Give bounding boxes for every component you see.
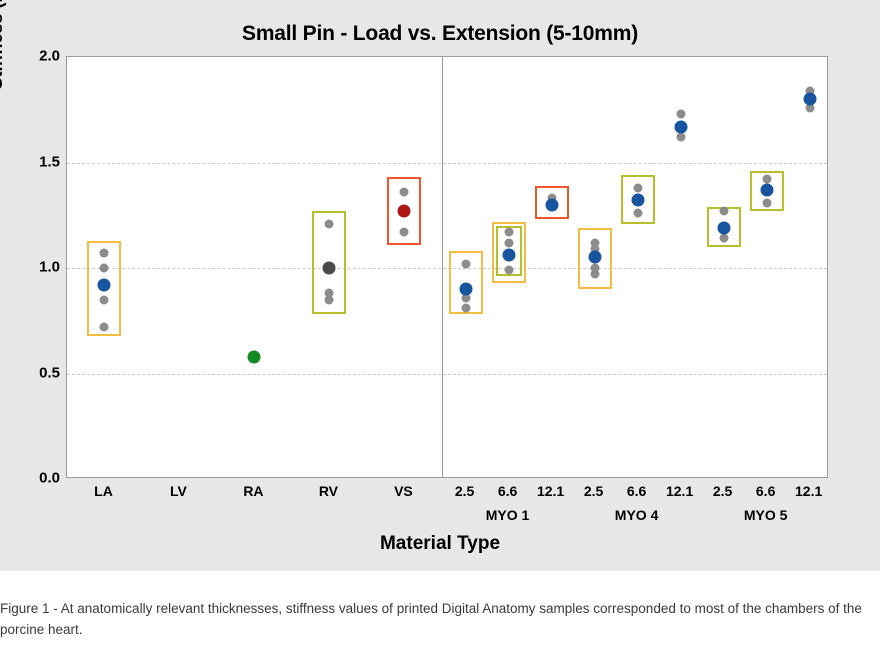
gridline <box>67 374 827 375</box>
x-tick-label: 12.1 <box>537 483 564 499</box>
data-point <box>461 259 470 268</box>
figure-caption: Figure 1 - At anatomically relevant thic… <box>0 571 880 650</box>
x-group-label: MYO 5 <box>744 507 788 523</box>
data-point <box>676 109 685 118</box>
x-tick-label: 6.6 <box>756 483 775 499</box>
mean-data-point <box>323 262 336 275</box>
x-tick-label: LA <box>94 483 113 499</box>
x-tick-label: 12.1 <box>666 483 693 499</box>
mean-data-point <box>398 205 411 218</box>
y-tick-label: 0.5 <box>8 364 60 381</box>
data-point <box>400 228 409 237</box>
x-tick-label: 6.6 <box>627 483 646 499</box>
y-tick-label: 1.0 <box>8 259 60 276</box>
gridline <box>67 163 827 164</box>
x-tick-label: RV <box>319 483 338 499</box>
data-point <box>325 295 334 304</box>
y-axis-title: Stiffness (N/mm) <box>0 0 7 148</box>
data-point <box>100 264 109 273</box>
chart-title: Small Pin - Load vs. Extension (5-10mm) <box>0 22 880 46</box>
x-tick-label: LV <box>170 483 187 499</box>
x-group-label: MYO 1 <box>486 507 530 523</box>
x-tick-label: 2.5 <box>455 483 474 499</box>
data-point <box>100 249 109 258</box>
y-tick-label: 2.0 <box>8 48 60 65</box>
data-point <box>504 266 513 275</box>
mean-data-point <box>459 283 472 296</box>
mean-data-point <box>674 120 687 133</box>
y-tick-label: 1.5 <box>8 153 60 170</box>
chart-panel: Small Pin - Load vs. Extension (5-10mm) … <box>0 0 880 571</box>
mean-data-point <box>588 251 601 264</box>
mean-data-point <box>760 183 773 196</box>
x-tick-label: VS <box>394 483 413 499</box>
mean-data-point <box>717 221 730 234</box>
mean-data-point <box>631 194 644 207</box>
data-point <box>590 270 599 279</box>
data-point <box>633 209 642 218</box>
data-point <box>461 304 470 313</box>
figure-root: Small Pin - Load vs. Extension (5-10mm) … <box>0 0 880 650</box>
x-tick-label: 6.6 <box>498 483 517 499</box>
mean-data-point <box>98 278 111 291</box>
mean-data-point <box>803 93 816 106</box>
data-point <box>719 207 728 216</box>
data-point <box>719 234 728 243</box>
data-point <box>762 198 771 207</box>
x-group-label: MYO 4 <box>615 507 659 523</box>
x-tick-label: 2.5 <box>584 483 603 499</box>
plot-area <box>66 56 828 478</box>
mean-data-point <box>545 198 558 211</box>
x-tick-label: 2.5 <box>713 483 732 499</box>
data-point <box>325 219 334 228</box>
y-tick-label: 0.0 <box>8 470 60 487</box>
x-axis-title: Material Type <box>0 533 880 555</box>
data-point <box>400 188 409 197</box>
x-tick-label: 12.1 <box>795 483 822 499</box>
gridline <box>67 268 827 269</box>
x-tick-label: RA <box>243 483 263 499</box>
data-point <box>676 133 685 142</box>
data-point <box>504 228 513 237</box>
mean-data-point <box>502 249 515 262</box>
panel-divider-line <box>442 57 443 477</box>
data-point <box>100 295 109 304</box>
mean-data-point <box>248 350 261 363</box>
data-point <box>504 238 513 247</box>
data-point <box>100 323 109 332</box>
data-point <box>633 183 642 192</box>
